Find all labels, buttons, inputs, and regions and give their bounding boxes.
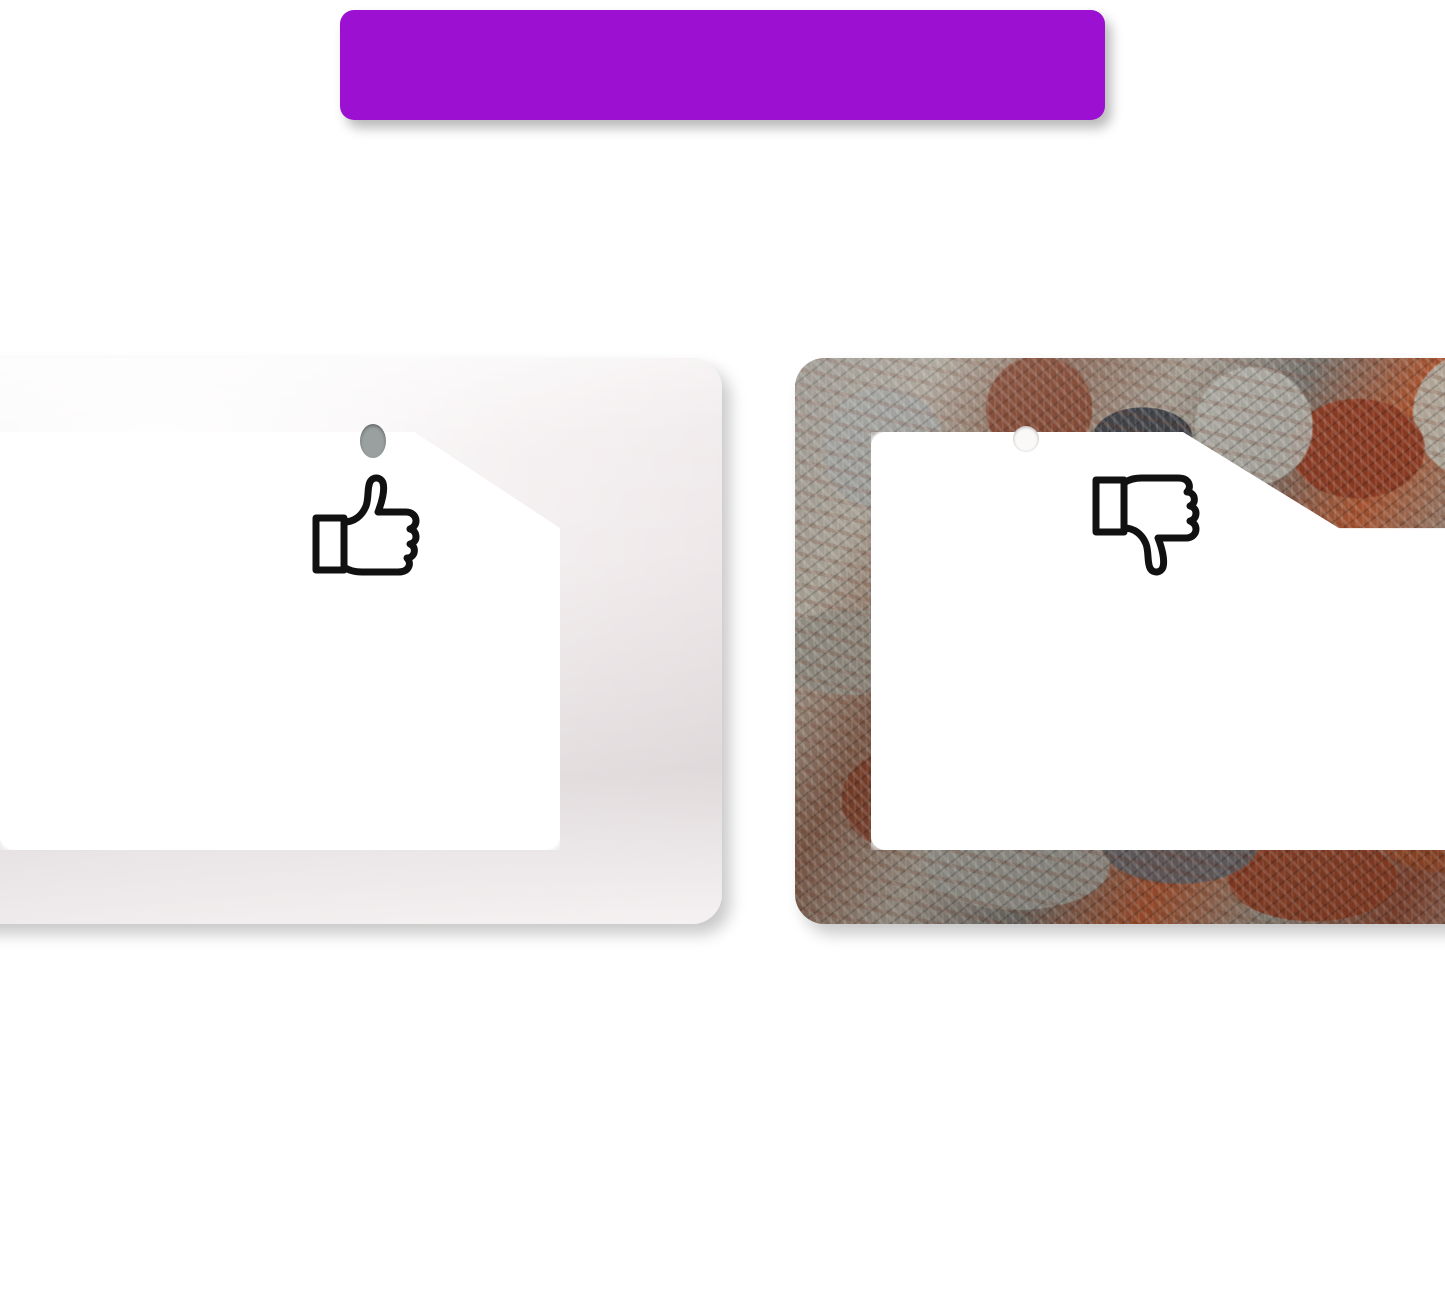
ordinary-product-panel xyxy=(846,470,1445,602)
thumbs-up-icon xyxy=(86,470,646,580)
title-banner xyxy=(340,10,1105,120)
our-product-description-column xyxy=(0,985,722,1043)
our-product-panel xyxy=(86,470,646,602)
our-product-frame xyxy=(0,358,722,924)
mounting-hole-ours xyxy=(360,424,386,458)
ordinary-product-description-column xyxy=(722,985,1444,1043)
ordinary-product-frame xyxy=(795,358,1445,924)
frames-row xyxy=(0,340,1445,940)
comparison-chart-page xyxy=(0,0,1445,1314)
mounting-hole-theirs xyxy=(1013,426,1039,452)
comparison-description-row xyxy=(0,985,1445,1043)
title-banner-wrapper xyxy=(340,10,1105,120)
thumbs-down-icon xyxy=(846,470,1445,580)
